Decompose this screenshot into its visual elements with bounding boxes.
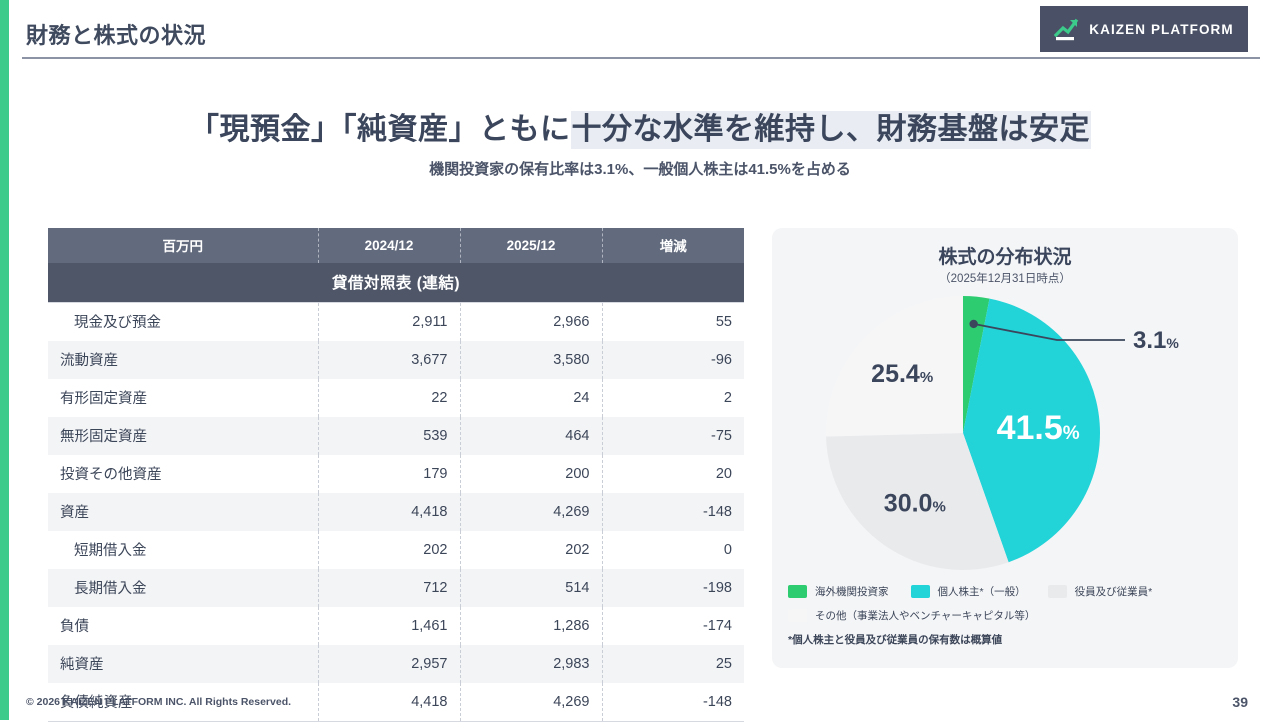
pie-legend: 海外機関投資家 個人株主*（一般） 役員及び従業員* その他（事業法人やベンチャ…: [788, 584, 1228, 647]
page-title: 財務と株式の状況: [26, 18, 206, 50]
cell-delta: 0: [602, 531, 744, 569]
cell-2025: 2,966: [460, 303, 602, 342]
col-header-unit: 百万円: [48, 228, 318, 263]
table-row: 無形固定資産539464-75: [48, 417, 744, 455]
kaizen-logo: KAIZEN PLATFORM: [1040, 6, 1248, 52]
cell-2025: 4,269: [460, 493, 602, 531]
cell-2024: 4,418: [318, 493, 460, 531]
pie-chart-subtitle: （2025年12月31日時点）: [772, 270, 1238, 286]
header-divider: [22, 57, 1260, 59]
cell-delta: -75: [602, 417, 744, 455]
cell-delta: 20: [602, 455, 744, 493]
headline-subtitle: 機関投資家の保有比率は3.1%、一般個人株主は41.5%を占める: [0, 158, 1280, 179]
share-distribution-card: 株式の分布状況 （2025年12月31日時点） 41.5%30.0%25.4% …: [772, 228, 1238, 668]
cell-delta: -198: [602, 569, 744, 607]
table-header-row: 百万円 2024/12 2025/12 増減: [48, 228, 744, 263]
cell-2025: 3,580: [460, 341, 602, 379]
pie-chart-plot: 41.5%30.0%25.4% 3.1%: [772, 292, 1238, 574]
cell-2024: 3,677: [318, 341, 460, 379]
col-header-2024: 2024/12: [318, 228, 460, 263]
table-row: 長期借入金712514-198: [48, 569, 744, 607]
pie-chart-svg: 41.5%30.0%25.4% 3.1%: [795, 292, 1215, 574]
cell-delta: -148: [602, 683, 744, 722]
legend-row-1: 海外機関投資家 個人株主*（一般） 役員及び従業員*: [788, 584, 1228, 599]
table-body: 現金及び預金2,9112,96655流動資産3,6773,580-96有形固定資…: [48, 303, 744, 722]
table-row: 流動資産3,6773,580-96: [48, 341, 744, 379]
legend-item-3[interactable]: その他（事業法人やベンチャーキャピタル等）: [788, 608, 1035, 623]
headline-plain: 「現預金」「純資産」ともに: [189, 113, 571, 146]
legend-row-2: その他（事業法人やベンチャーキャピタル等）: [788, 608, 1228, 623]
cell-2024: 179: [318, 455, 460, 493]
table-row: 純資産2,9572,98325: [48, 645, 744, 683]
balance-sheet-table: 貸借対照表 (連結) 百万円 2024/12 2025/12 増減 現金及び預金…: [48, 228, 744, 722]
table-title-row: 貸借対照表 (連結): [48, 263, 744, 303]
row-label: 負債: [48, 607, 318, 645]
cell-2024: 539: [318, 417, 460, 455]
row-label: 流動資産: [48, 341, 318, 379]
legend-label-2: 役員及び従業員*: [1075, 584, 1153, 599]
cell-2024: 4,418: [318, 683, 460, 722]
pie-footnote: *個人株主と役員及び従業員の保有数は概算値: [788, 632, 1228, 647]
row-label: 長期借入金: [48, 569, 318, 607]
cell-2024: 2,911: [318, 303, 460, 342]
headline: 「現預金」「純資産」ともに十分な水準を維持し、財務基盤は安定: [0, 104, 1280, 148]
cell-2025: 1,286: [460, 607, 602, 645]
cell-2025: 4,269: [460, 683, 602, 722]
row-label: 現金及び預金: [48, 303, 318, 342]
row-label: 有形固定資産: [48, 379, 318, 417]
legend-label-3: その他（事業法人やベンチャーキャピタル等）: [815, 608, 1035, 623]
legend-swatch-icon-3: [788, 609, 807, 622]
cell-2024: 2,957: [318, 645, 460, 683]
row-label: 投資その他資産: [48, 455, 318, 493]
legend-item-2[interactable]: 役員及び従業員*: [1048, 584, 1153, 599]
col-header-delta: 増減: [602, 228, 744, 263]
table-row: 資産4,4184,269-148: [48, 493, 744, 531]
cell-2025: 464: [460, 417, 602, 455]
cell-2024: 202: [318, 531, 460, 569]
row-label: 資産: [48, 493, 318, 531]
cell-2024: 1,461: [318, 607, 460, 645]
headline-highlight: 十分な水準を維持し、財務基盤は安定: [571, 111, 1092, 149]
cell-delta: -148: [602, 493, 744, 531]
table-row: 投資その他資産17920020: [48, 455, 744, 493]
legend-swatch-icon-1: [911, 585, 930, 598]
cell-delta: -174: [602, 607, 744, 645]
legend-label-0: 海外機関投資家: [815, 584, 889, 599]
legend-swatch-icon-0: [788, 585, 807, 598]
pie-chart-title: 株式の分布状況: [772, 242, 1238, 269]
pie-callout-label: 3.1%: [1133, 327, 1179, 354]
table-row: 有形固定資産22242: [48, 379, 744, 417]
cell-delta: -96: [602, 341, 744, 379]
col-header-2025: 2025/12: [460, 228, 602, 263]
legend-label-1: 個人株主*（一般）: [938, 584, 1026, 599]
table-title: 貸借対照表 (連結): [48, 263, 744, 303]
cell-2025: 200: [460, 455, 602, 493]
legend-item-1[interactable]: 個人株主*（一般）: [911, 584, 1026, 599]
legend-swatch-icon-2: [1048, 585, 1067, 598]
callout-dot-icon: [969, 320, 977, 328]
cell-delta: 2: [602, 379, 744, 417]
cell-2025: 2,983: [460, 645, 602, 683]
footer-copyright: © 2026 KAIZEN PLATFORM INC. All Rights R…: [26, 696, 291, 708]
logo-text: KAIZEN PLATFORM: [1089, 22, 1234, 37]
cell-delta: 55: [602, 303, 744, 342]
growth-arrow-icon: [1054, 17, 1080, 41]
cell-2025: 514: [460, 569, 602, 607]
cell-2025: 202: [460, 531, 602, 569]
legend-item-0[interactable]: 海外機関投資家: [788, 584, 889, 599]
footer-page-number: 39: [1232, 694, 1248, 710]
row-label: 純資産: [48, 645, 318, 683]
cell-2024: 712: [318, 569, 460, 607]
cell-delta: 25: [602, 645, 744, 683]
cell-2025: 24: [460, 379, 602, 417]
table-row: 負債1,4611,286-174: [48, 607, 744, 645]
cell-2024: 22: [318, 379, 460, 417]
row-label: 無形固定資産: [48, 417, 318, 455]
row-label: 短期借入金: [48, 531, 318, 569]
table-row: 現金及び預金2,9112,96655: [48, 303, 744, 342]
table-row: 短期借入金2022020: [48, 531, 744, 569]
slide-header: 財務と株式の状況 KAIZEN PLATFORM: [0, 0, 1280, 62]
